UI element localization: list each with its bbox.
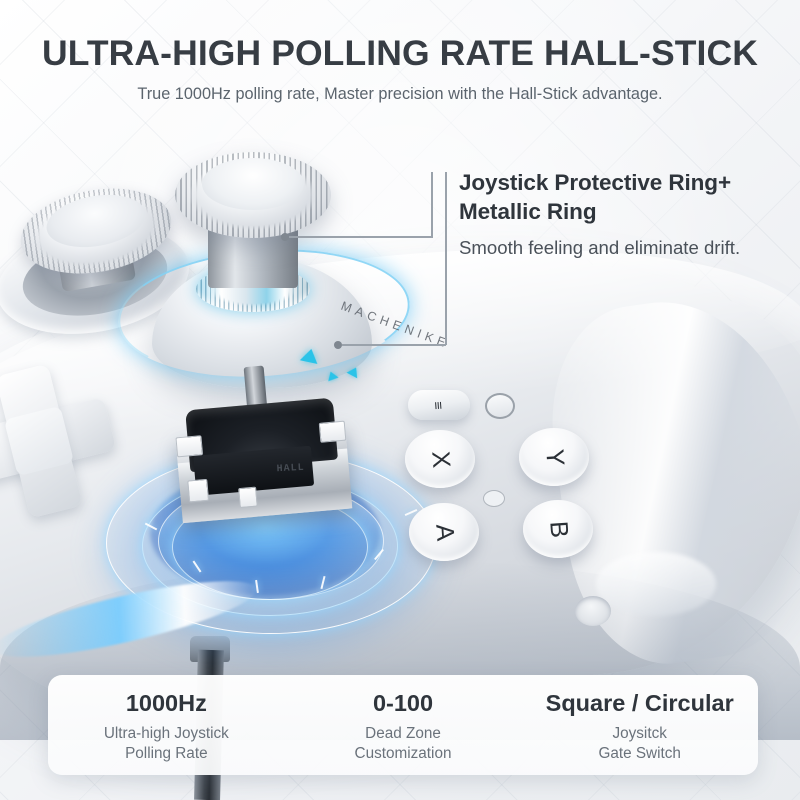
spec-label-line2: Gate Switch xyxy=(598,744,680,764)
leader-dot-protective-ring xyxy=(334,341,342,349)
leader-line-horizontal-1 xyxy=(289,236,433,238)
button-y[interactable]: Y xyxy=(519,428,589,486)
spec-value: 1000Hz xyxy=(126,690,207,717)
callout-title: Joystick Protective Ring+ Metallic Ring xyxy=(459,168,789,227)
page-title: ULTRA-HIGH POLLING RATE HALL-STICK xyxy=(0,33,800,74)
spec-value: 0-100 xyxy=(373,690,433,717)
button-y-label: Y xyxy=(539,448,569,467)
menu-button[interactable]: ≡ xyxy=(408,390,470,420)
spec-item-gate-switch: Square / Circular Joysitck Gate Switch xyxy=(521,675,758,775)
spec-label-line1: Joysitck xyxy=(612,724,666,744)
leader-dot-metallic-ring xyxy=(281,233,289,241)
hall-sensor-tab xyxy=(187,479,209,503)
leader-line-vertical-2 xyxy=(445,172,447,345)
hall-sensor-tab xyxy=(238,487,258,508)
spec-card: 1000Hz Ultra-high Joystick Polling Rate … xyxy=(48,675,758,775)
leader-line-horizontal-2 xyxy=(342,344,446,346)
spec-label-line2: Customization xyxy=(355,744,452,764)
header: ULTRA-HIGH POLLING RATE HALL-STICK True … xyxy=(0,0,800,104)
hall-sensor-module: HALL xyxy=(167,396,357,529)
spec-item-polling-rate: 1000Hz Ultra-high Joystick Polling Rate xyxy=(48,675,285,775)
right-stick-recess xyxy=(575,596,611,626)
hall-sensor-tab xyxy=(319,421,347,443)
spec-label-line1: Dead Zone xyxy=(365,724,441,744)
button-b[interactable]: B xyxy=(523,500,593,558)
hall-sensor-tab xyxy=(175,435,203,457)
button-x[interactable]: X xyxy=(405,430,475,488)
center-indicator-button[interactable] xyxy=(483,490,505,507)
page-subtitle: True 1000Hz polling rate, Master precisi… xyxy=(0,85,800,104)
spec-label-line2: Polling Rate xyxy=(125,744,207,764)
leader-line-vertical-1 xyxy=(431,172,433,238)
button-x-label: X xyxy=(425,450,455,469)
button-a[interactable]: A xyxy=(409,503,479,561)
callout-body: Smooth feeling and eliminate drift. xyxy=(459,236,789,261)
joystick-cap-dish xyxy=(202,158,304,210)
button-b-label: B xyxy=(543,520,573,539)
spec-value: Square / Circular xyxy=(546,690,734,717)
spec-item-dead-zone: 0-100 Dead Zone Customization xyxy=(285,675,522,775)
feature-callout: Joystick Protective Ring+ Metallic Ring … xyxy=(459,168,789,260)
spec-label-line1: Ultra-high Joystick xyxy=(104,724,229,744)
home-button[interactable] xyxy=(485,393,515,419)
button-a-label: A xyxy=(429,523,459,542)
hall-sensor-label: HALL xyxy=(276,463,305,475)
menu-button-label: ≡ xyxy=(431,401,447,409)
right-stick-area xyxy=(596,552,716,616)
